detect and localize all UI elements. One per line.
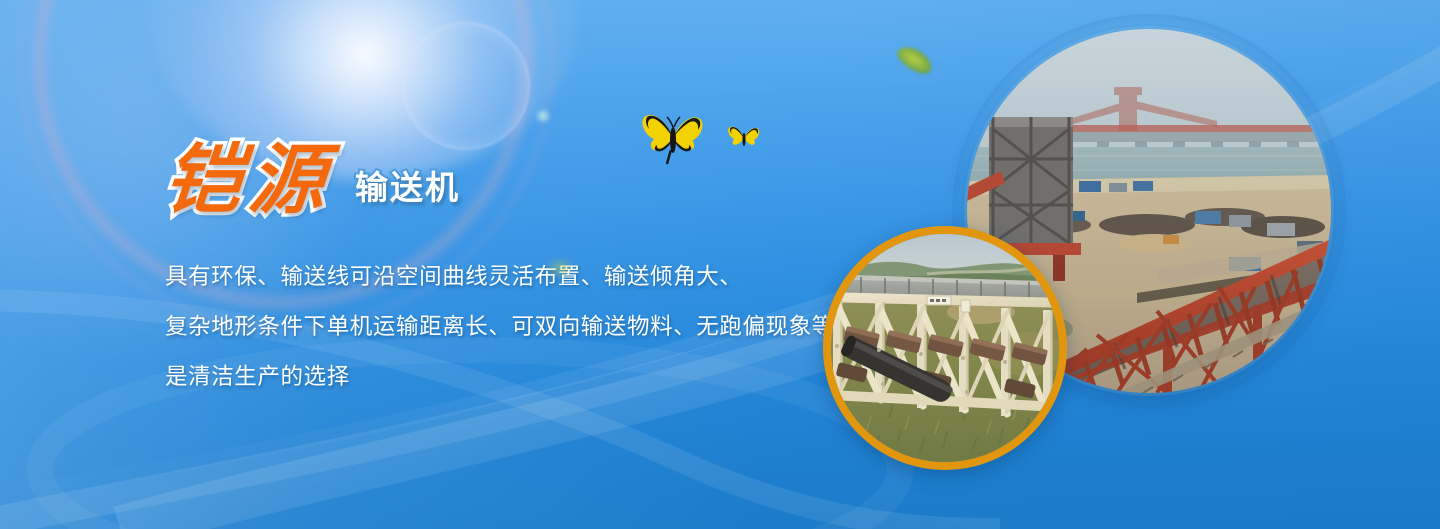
hillside-conveyor-photo <box>823 226 1067 470</box>
banner-title-group: 铠源 输送机 <box>165 142 460 218</box>
leaf-glow-icon <box>546 258 574 278</box>
product-label: 输送机 <box>355 161 460 209</box>
butterfly-icon <box>727 123 761 153</box>
brand-name: 铠源 <box>162 142 337 218</box>
butterfly-icon <box>640 108 706 166</box>
product-banner: 铠源 输送机 具有环保、输送线可沿空间曲线灵活布置、输送倾角大、 复杂地形条件下… <box>0 0 1440 529</box>
